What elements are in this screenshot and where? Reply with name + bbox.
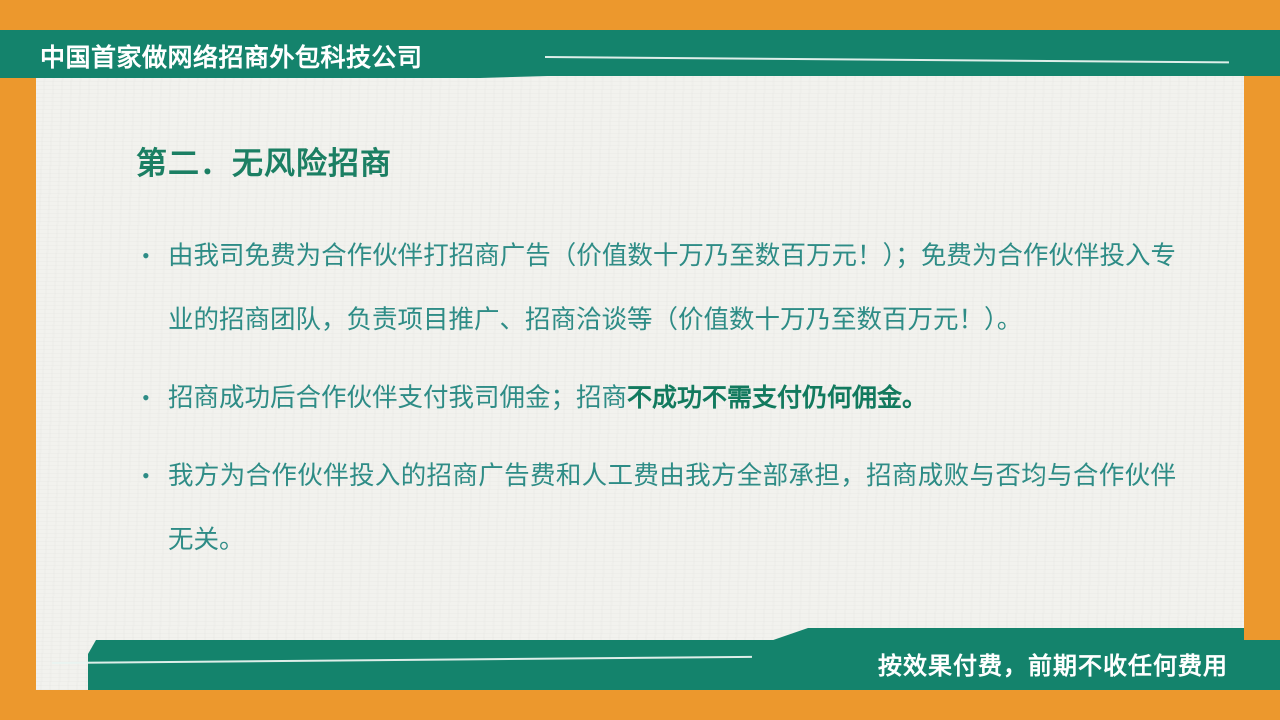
- list-item: •我方为合作伙伴投入的招商广告费和人工费由我方全部承担，招商成败与否均与合作伙伴…: [136, 444, 1176, 572]
- list-item: •由我司免费为合作伙伴打招商广告（价值数十万乃至数百万元！）；免费为合作伙伴投入…: [136, 224, 1176, 352]
- list-item-text: 由我司免费为合作伙伴打招商广告（价值数十万乃至数百万元！）；免费为合作伙伴投入专…: [168, 241, 1176, 334]
- list-item: •招商成功后合作伙伴支付我司佣金；招商不成功不需支付仍何佣金。: [136, 366, 1176, 430]
- bullet-list: •由我司免费为合作伙伴打招商广告（价值数十万乃至数百万元！）；免费为合作伙伴投入…: [136, 224, 1176, 586]
- list-item-emphasis: 不成功不需支付仍何佣金。: [627, 384, 927, 412]
- page-title: 第二．无风险招商: [136, 138, 392, 183]
- header-title: 中国首家做网络招商外包科技公司: [40, 38, 423, 74]
- bullet-marker-icon: •: [142, 224, 150, 288]
- slide: 中国首家做网络招商外包科技公司 第二．无风险招商 •由我司免费为合作伙伴打招商广…: [0, 0, 1280, 720]
- bullet-marker-icon: •: [142, 444, 150, 508]
- list-item-text: 我方为合作伙伴投入的招商广告费和人工费由我方全部承担，招商成败与否均与合作伙伴无…: [168, 461, 1176, 554]
- bullet-marker-icon: •: [142, 366, 150, 430]
- list-item-text: 招商成功后合作伙伴支付我司佣金；招商: [168, 383, 627, 412]
- footer-tagline: 按效果付费，前期不收任何费用: [878, 646, 1228, 681]
